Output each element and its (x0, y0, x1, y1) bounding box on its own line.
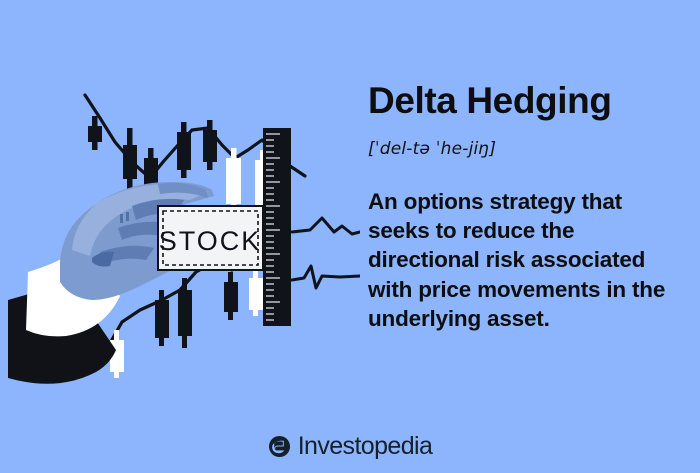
brand-name: Investopedia (298, 434, 433, 459)
ruler (263, 128, 291, 326)
brand-logo: Investopedia (0, 434, 700, 459)
definition-description: An options strategy that seeks to reduce… (368, 187, 668, 333)
candlestick (249, 268, 263, 316)
candlestick (177, 122, 191, 178)
investopedia-logo-mark (268, 435, 291, 458)
illustration: STOCK (0, 0, 360, 420)
pronunciation-text: [ˈdel-tə ˈhe-jiŋ] (368, 139, 680, 159)
signal-line-lower-right (292, 266, 360, 288)
candlestick (123, 128, 137, 190)
candlestick (88, 116, 102, 150)
stock-card: STOCK (158, 206, 263, 270)
definition-block: Delta Hedging [ˈdel-tə ˈhe-jiŋ] An optio… (368, 82, 680, 333)
stock-card-label: STOCK (159, 226, 262, 256)
infographic-card: STOCK Delta Hedging [ˈdel-tə ˈhe-jiŋ] An… (0, 0, 700, 473)
page-title: Delta Hedging (368, 82, 680, 121)
illustration-svg: STOCK (0, 0, 360, 420)
candlestick (224, 272, 238, 320)
signal-line-upper-right (292, 218, 360, 234)
